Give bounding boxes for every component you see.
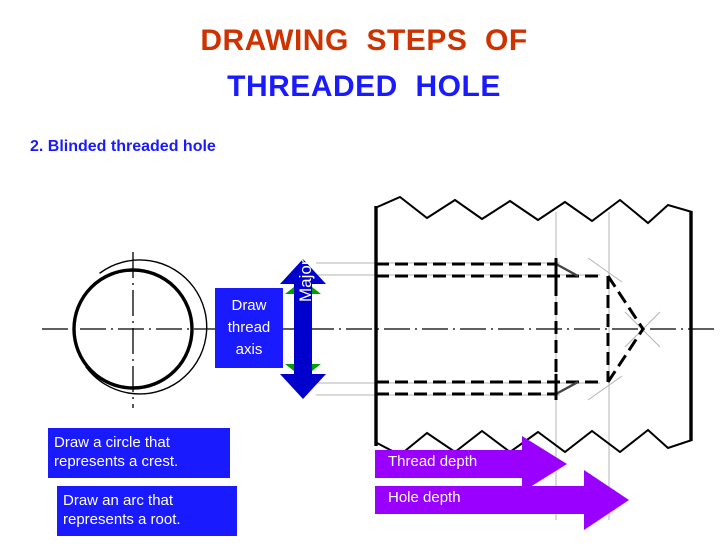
root-arc: [86, 260, 207, 394]
callout-root-line-1: Draw an arc that: [63, 492, 231, 511]
hidden-line-drill-point-lower: [608, 329, 643, 382]
thread-depth-label: Thread depth: [388, 453, 477, 470]
thread-runout-bottom: [556, 382, 578, 394]
depth-dimension-arrows: [375, 436, 629, 530]
slide-canvas: DRAWING STEPS OF THREADED HOLE 2. Blinde…: [0, 0, 728, 546]
callout-root-line-2: represents a root.: [63, 511, 231, 530]
hidden-line-drill-point-upper: [608, 276, 643, 329]
callout-draw-thread-axis: Draw thread axis: [215, 288, 283, 368]
hole-depth-label: Hole depth: [388, 489, 461, 506]
construction-line-point-upper: [588, 258, 622, 282]
threaded-hole-section-view: [375, 197, 692, 455]
callout-draw-arc-root: Draw an arc that represents a root.: [57, 486, 237, 536]
callout-crest-line-2: represents a crest.: [54, 453, 224, 472]
callout-crest-line-1: Draw a circle that: [54, 434, 224, 453]
thread-runout-top: [556, 264, 578, 276]
construction-line-point-lower: [588, 376, 622, 400]
callout-draw-circle-crest: Draw a circle that represents a crest.: [48, 428, 230, 478]
top-break-line: [375, 197, 692, 223]
